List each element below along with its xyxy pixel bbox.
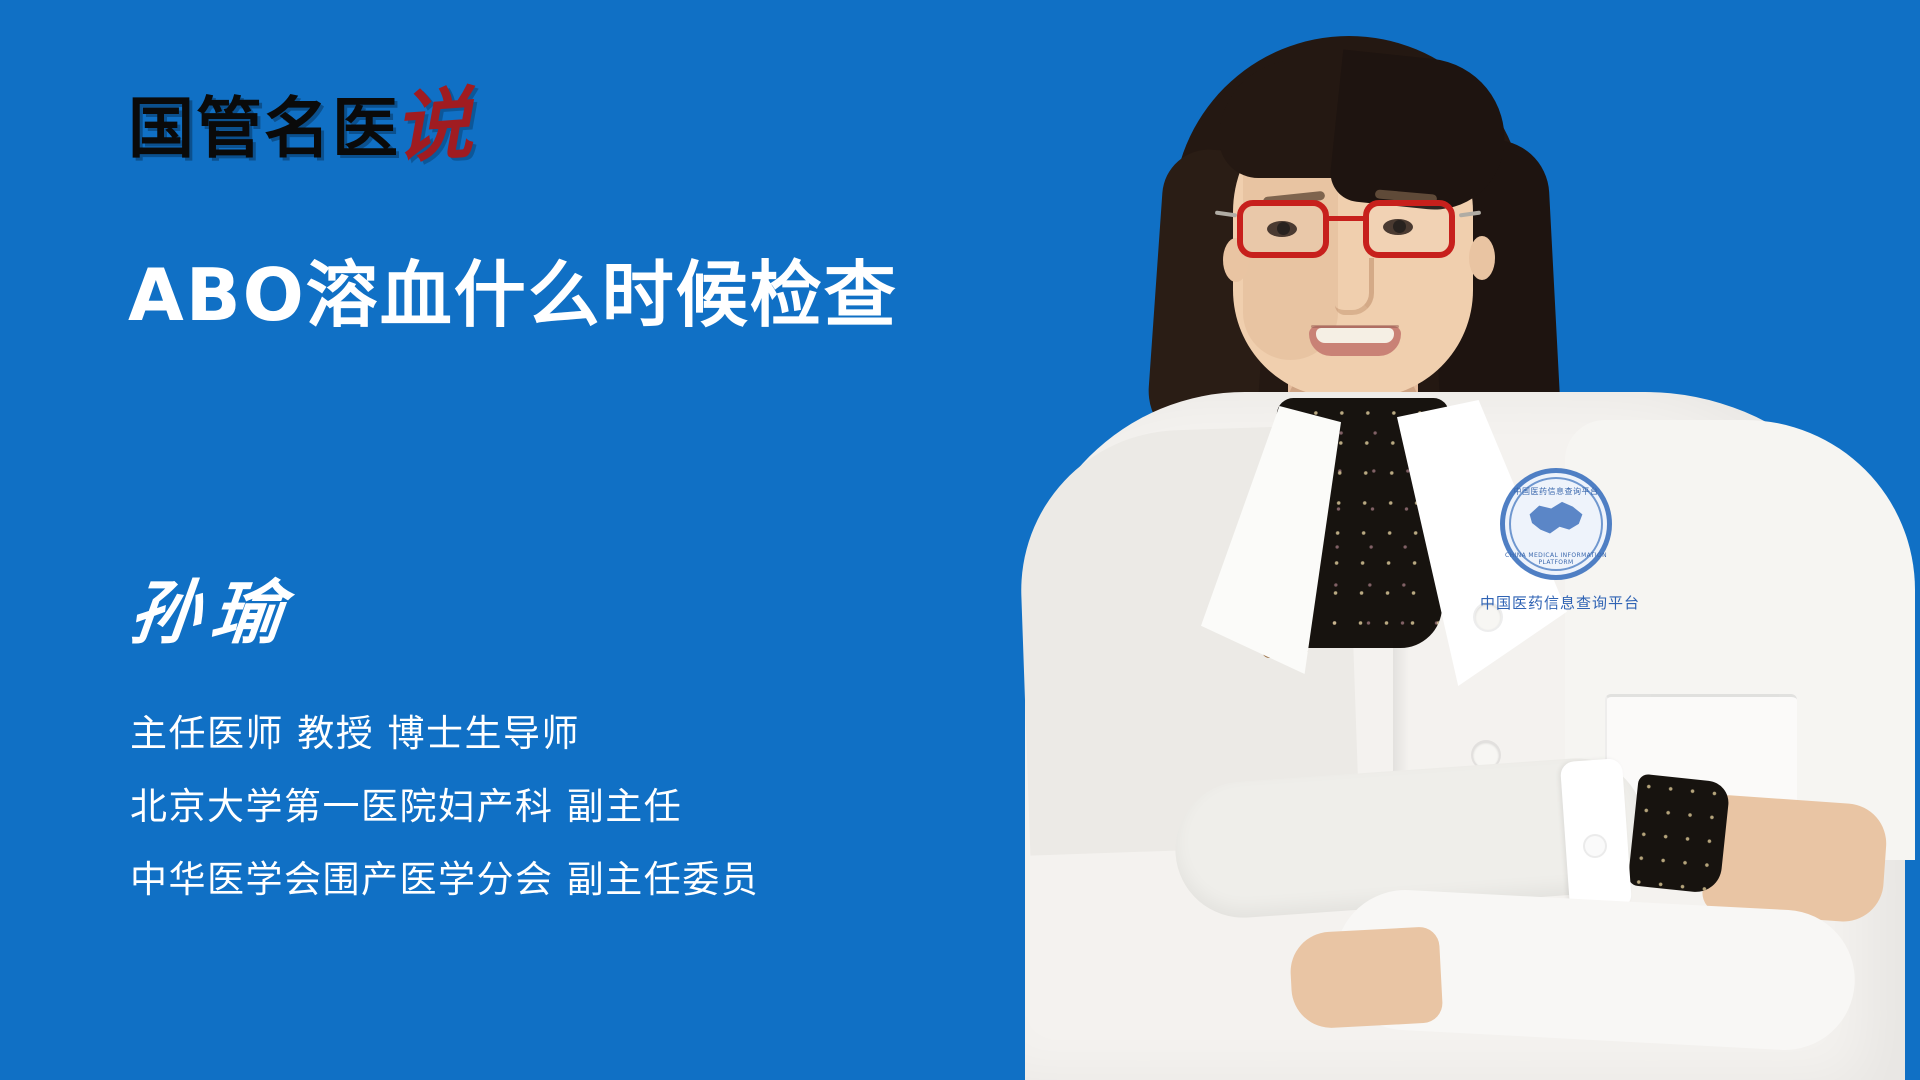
badge-caption-text: 中国医药信息查询平台 [1465, 592, 1655, 613]
credential-line: 中华医学会围产医学分会 副主任委员 [130, 861, 759, 898]
teeth [1316, 328, 1394, 343]
credential-line: 北京大学第一医院妇产科 副主任 [130, 788, 759, 825]
slide-canvas: 国管名医 说 ABO溶血什么时候检查 孙瑜 主任医师 教授 博士生导师 北京大学… [0, 0, 1920, 1080]
brand-logo-main-text: 国管名医 [128, 96, 400, 162]
doctor-signature-name: 孙瑜 [126, 578, 297, 648]
brand-logo: 国管名医 说 [128, 84, 472, 162]
doctor-credentials-list: 主任医师 教授 博士生导师 北京大学第一医院妇产科 副主任 中华医学会围产医学分… [130, 715, 759, 898]
hand [1289, 926, 1444, 1030]
nose [1335, 258, 1374, 315]
coat-cuff [1560, 758, 1632, 912]
ear-right [1469, 236, 1495, 280]
glasses-lens-left [1237, 200, 1329, 258]
page-title: ABO溶血什么时候检查 [128, 256, 898, 335]
coat-cuff-button [1585, 836, 1605, 856]
brand-logo-accent-text: 说 [391, 85, 474, 168]
forearm-skin [1701, 794, 1889, 924]
glasses-lens-right [1363, 200, 1455, 258]
eyeglasses [1237, 200, 1471, 266]
platform-emblem-badge: 中国医药信息查询平台 CHINA MEDICAL INFORMATION PLA… [1500, 468, 1612, 580]
upper-lip-line [1311, 325, 1399, 328]
badge-emblem-top-text: 中国医药信息查询平台 [1500, 486, 1612, 497]
blouse-sleeve-cuff [1627, 773, 1730, 894]
credential-line: 主任医师 教授 博士生导师 [130, 715, 759, 752]
mouth [1309, 326, 1401, 356]
doctor-portrait-photo: 中国医药信息查询平台 CHINA MEDICAL INFORMATION PLA… [1005, 0, 1920, 1080]
badge-emblem-bottom-text: CHINA MEDICAL INFORMATION PLATFORM [1500, 552, 1612, 566]
